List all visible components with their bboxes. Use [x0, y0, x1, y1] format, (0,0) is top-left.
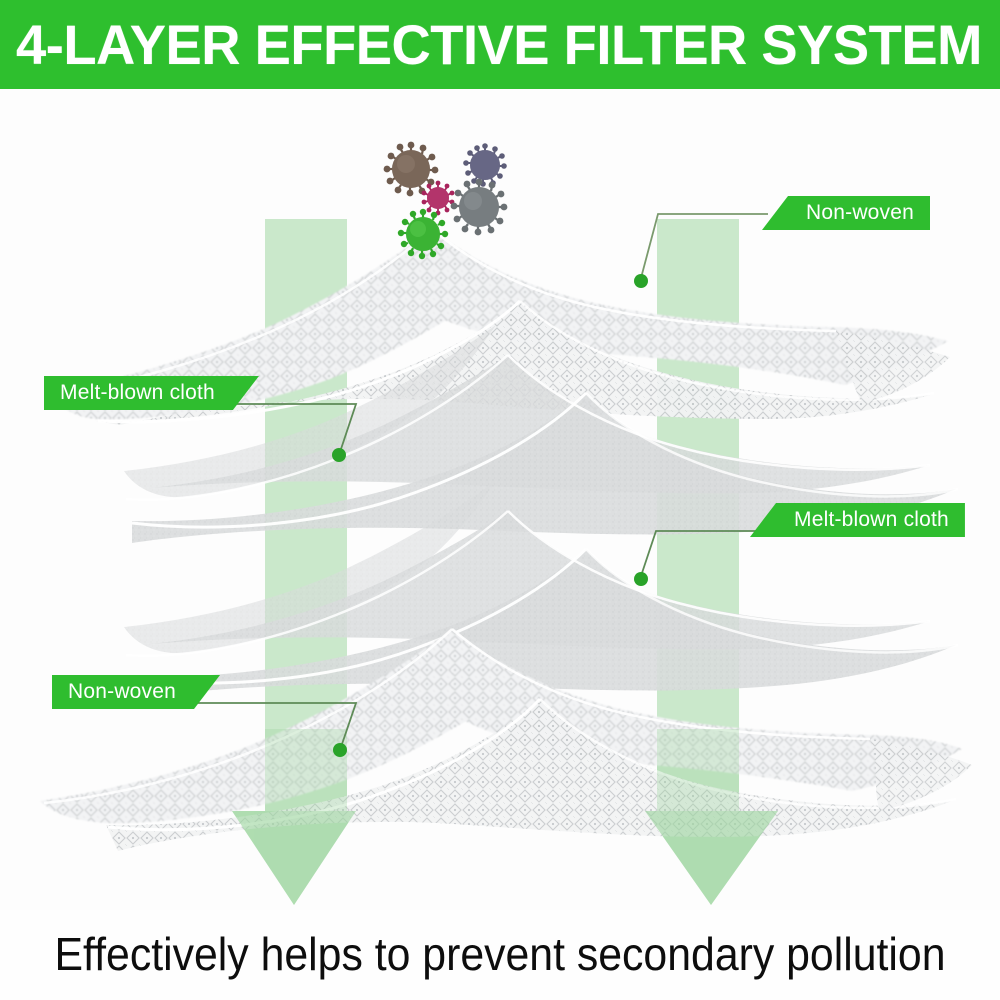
germ-gray — [451, 179, 508, 236]
page-title: 4-LAYER EFFECTIVE FILTER SYSTEM — [16, 12, 982, 77]
bottom-caption: Effectively helps to prevent secondary p… — [35, 908, 965, 1000]
label-melt-blown-lower[interactable]: Melt-blown cloth — [750, 503, 965, 537]
infographic-root: 4-LAYER EFFECTIVE FILTER SYSTEM — [0, 0, 1000, 1000]
label-melt-blown-upper-text: Melt-blown cloth — [60, 381, 215, 405]
filter-diagram: Non-woven Melt-blown cloth Melt-blown cl… — [0, 89, 1000, 910]
germ-magenta — [422, 181, 455, 216]
label-non-woven-bottom[interactable]: Non-woven — [52, 675, 220, 709]
label-non-woven-top[interactable]: Non-woven — [762, 196, 930, 230]
label-melt-blown-upper[interactable]: Melt-blown cloth — [44, 376, 259, 410]
label-non-woven-bottom-text: Non-woven — [68, 680, 176, 704]
label-melt-blown-lower-text: Melt-blown cloth — [794, 508, 949, 532]
label-non-woven-top-text: Non-woven — [806, 201, 914, 225]
header-banner: 4-LAYER EFFECTIVE FILTER SYSTEM — [0, 0, 1000, 89]
germ-slate — [463, 143, 507, 187]
